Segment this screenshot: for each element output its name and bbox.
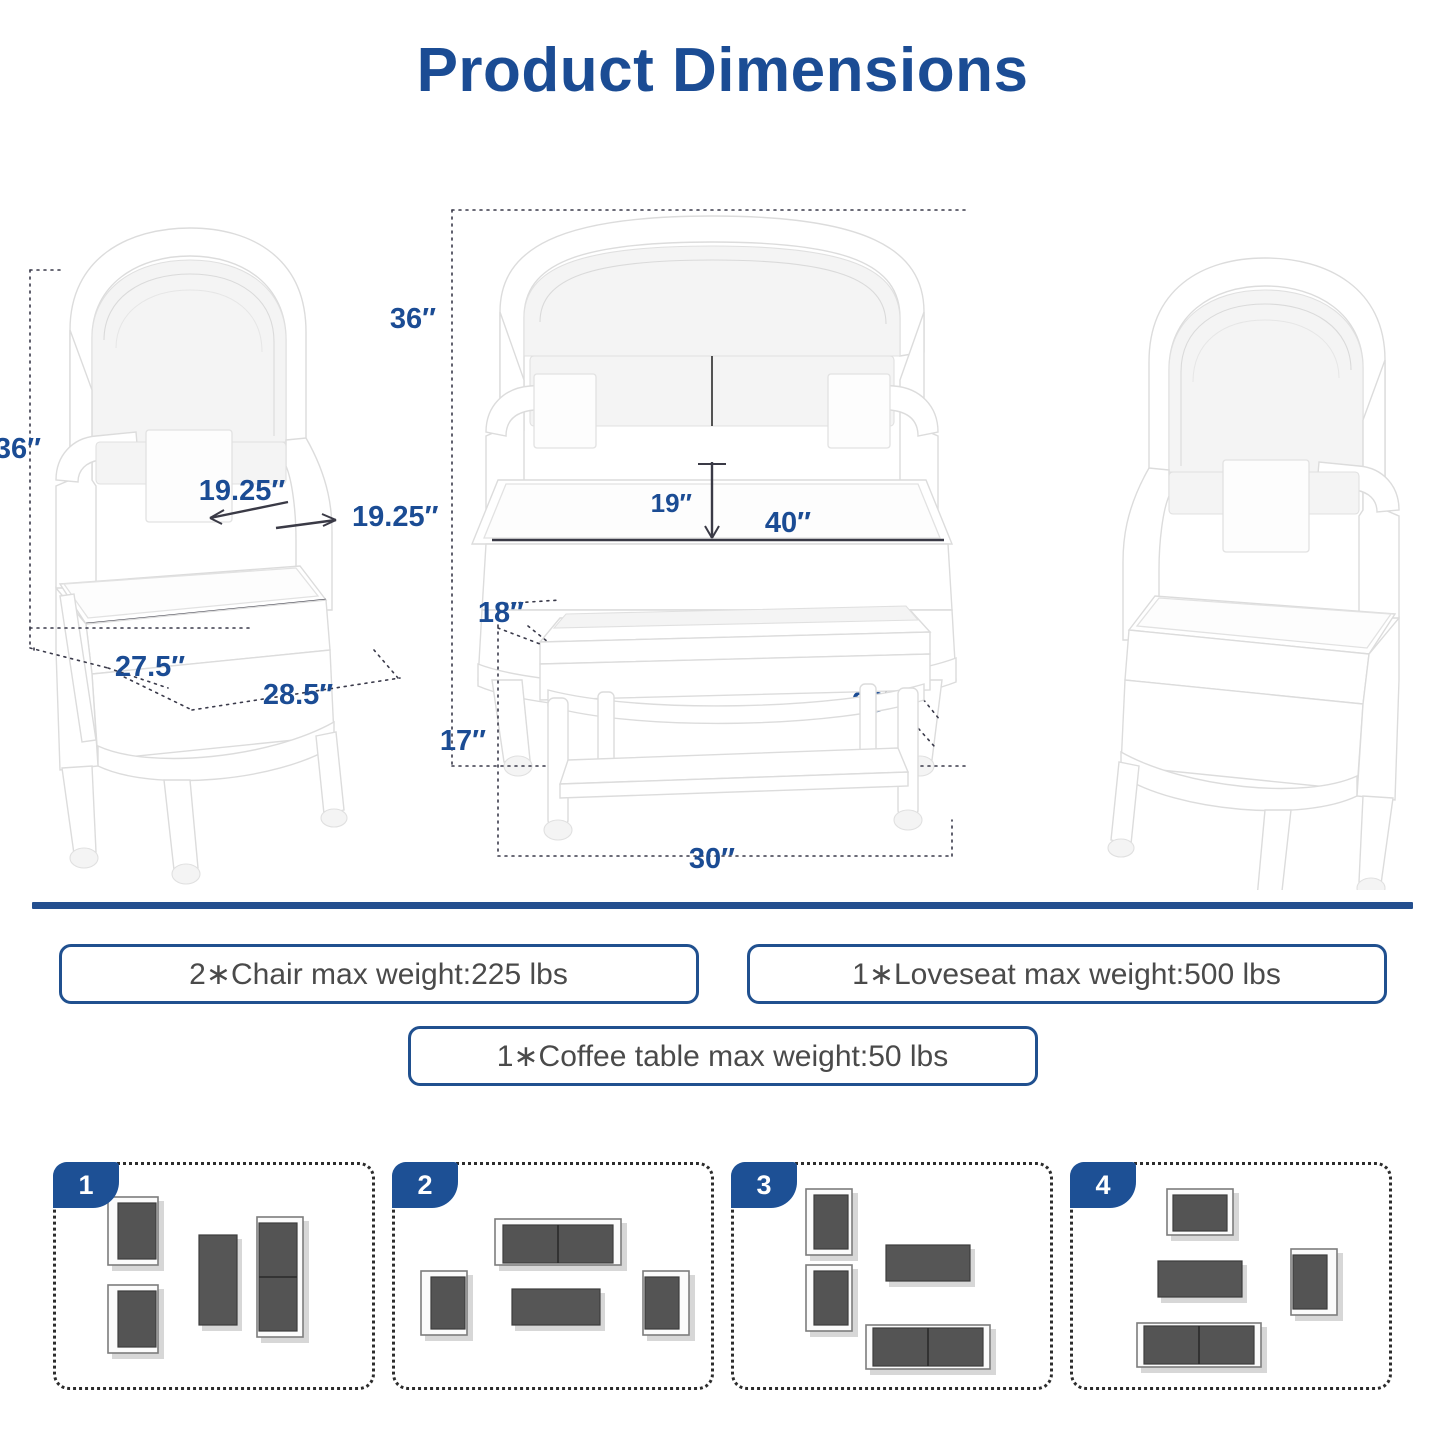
loveseat-icon [1137,1323,1267,1373]
chair-illustration: 36″ 19.25″ 19.25″ 27.5″ 28.5″ [0,228,439,884]
dimension-diagram: 36″ 19.25″ 19.25″ 27.5″ 28.5″ [0,180,1445,890]
weight-row-top: 2∗Chair max weight:225 lbs 1∗Loveseat ma… [0,944,1445,1004]
coffee-table-icon [886,1245,975,1287]
coffee-table-icon [1158,1261,1247,1303]
page-title: Product Dimensions [0,38,1445,103]
chair-icon [421,1271,473,1341]
weight-box-coffee-table: 1∗Coffee table max weight:50 lbs [408,1026,1038,1086]
weight-box-chair-label: 2∗Chair max weight:225 lbs [189,957,568,992]
coffee-table-depth-label: 18″ [478,597,524,629]
arrangement-badge-3: 3 [731,1162,797,1208]
coffee-table-icon [512,1289,605,1331]
weight-capacity-section: 2∗Chair max weight:225 lbs 1∗Loveseat ma… [0,944,1445,1108]
weight-box-loveseat: 1∗Loveseat max weight:500 lbs [747,944,1387,1004]
chair-icon [108,1197,164,1271]
chair-icon [806,1265,858,1337]
arrangement-panel-3[interactable]: 3 [731,1162,1053,1390]
loveseat-seat-width-label: 40″ [765,507,811,539]
arrangement-badge-4: 4 [1070,1162,1136,1208]
arrangement-badge-2: 2 [392,1162,458,1208]
chair-seat-depth-label: 19.25″ [199,475,286,507]
weight-row-bottom: 1∗Coffee table max weight:50 lbs [0,1026,1445,1086]
loveseat-height-label: 36″ [390,303,436,335]
loveseat-icon [866,1325,996,1375]
chair-seat-width-label: 19.25″ [352,501,439,533]
coffee-table-height-label: 17″ [440,725,486,757]
chair-icon [1167,1189,1239,1241]
chair-icon [806,1189,858,1261]
section-divider [32,902,1413,909]
arrangement-panel-1[interactable]: 1 [53,1162,375,1390]
loveseat-icon [257,1217,309,1343]
weight-box-chair: 2∗Chair max weight:225 lbs [59,944,699,1004]
chair-height-label: 36″ [0,433,41,465]
weight-box-coffee-table-label: 1∗Coffee table max weight:50 lbs [497,1039,949,1074]
loveseat-seat-height-label: 19″ [651,488,692,518]
chair-icon [108,1285,164,1359]
arrangement-panel-2[interactable]: 2 [392,1162,714,1390]
coffee-table-width-label: 30″ [689,843,735,875]
chair-icon [643,1271,695,1341]
arrangement-panel-4[interactable]: 4 [1070,1162,1392,1390]
chair-illustration-right [1108,258,1399,890]
chair-icon [1291,1249,1343,1321]
chair-depth-label: 27.5″ [115,651,185,683]
loveseat-icon [495,1219,627,1271]
weight-box-loveseat-label: 1∗Loveseat max weight:500 lbs [852,957,1281,992]
chair-width-label: 28.5″ [263,679,333,711]
arrangement-section: 1 [0,1162,1445,1390]
arrangement-badge-1: 1 [53,1162,119,1208]
coffee-table-icon [199,1235,242,1331]
